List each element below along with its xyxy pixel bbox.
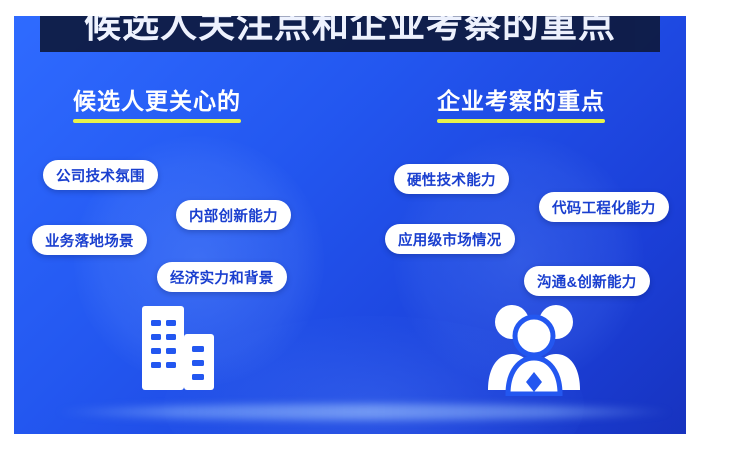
banner-title: 候选人关注点和企业考察的重点 [40,0,660,48]
column-heading-left-text: 候选人更关心的 [73,88,241,114]
ground-shadow [54,404,674,420]
chip-left-4: 经济实力和背景 [157,262,287,292]
heading-underline-right [437,119,605,123]
chip-right-2: 代码工程化能力 [539,192,669,222]
chip-left-2: 内部创新能力 [176,200,291,230]
banner-title-strip: 候选人关注点和企业考察的重点 [40,16,660,52]
office-building-icon [118,300,238,396]
people-group-icon [480,296,600,392]
chip-left-1: 公司技术氛围 [43,160,158,190]
chip-right-3: 应用级市场情况 [385,224,515,254]
chip-right-1: 硬性技术能力 [394,164,509,194]
screenshot-canvas: 候选人关注点和企业考察的重点 候选人更关心的 企业考察的重点 公司技术氛围 内部… [0,0,750,451]
column-heading-right-text: 企业考察的重点 [437,88,605,114]
column-heading-left: 候选人更关心的 [73,82,241,116]
heading-underline-left [73,119,241,123]
chip-right-4: 沟通&创新能力 [524,266,650,296]
column-heading-right: 企业考察的重点 [437,82,605,116]
chip-left-3: 业务落地场景 [32,225,147,255]
